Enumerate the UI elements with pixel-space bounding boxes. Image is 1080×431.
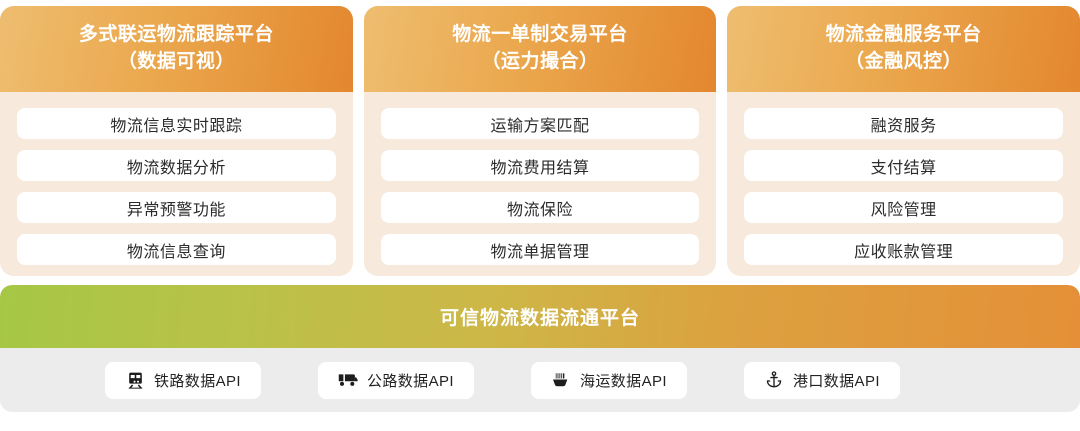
banner-title: 可信物流数据流通平台 [440, 303, 640, 330]
card-title-line2: （运力撮合） [482, 49, 599, 76]
card-body-finance: 融资服务 支付结算 风险管理 应收账款管理 [727, 92, 1080, 276]
feature-pill[interactable]: 应收账款管理 [744, 234, 1063, 265]
card-header-tracking: 多式联运物流跟踪平台 （数据可视） [0, 6, 353, 92]
feature-pill[interactable]: 运输方案匹配 [381, 108, 700, 139]
platform-card-tracking[interactable]: 多式联运物流跟踪平台 （数据可视） 物流信息实时跟踪 物流数据分析 异常预警功能… [0, 6, 353, 276]
api-pill-row: 铁路数据API 公路数据API [0, 348, 1080, 412]
feature-pill[interactable]: 物流信息实时跟踪 [17, 108, 336, 139]
feature-pill[interactable]: 物流信息查询 [17, 234, 336, 265]
anchor-icon [764, 370, 784, 390]
api-label: 海运数据API [580, 370, 667, 391]
platform-cards-row: 多式联运物流跟踪平台 （数据可视） 物流信息实时跟踪 物流数据分析 异常预警功能… [0, 6, 1080, 276]
api-pill-shipping[interactable]: 海运数据API [531, 362, 687, 399]
api-label: 港口数据API [793, 370, 880, 391]
data-exchange-banner: 可信物流数据流通平台 [0, 285, 1080, 348]
card-body-tracking: 物流信息实时跟踪 物流数据分析 异常预警功能 物流信息查询 [0, 92, 353, 276]
api-pill-highway[interactable]: 公路数据API [318, 362, 474, 399]
card-title-line1: 多式联运物流跟踪平台 [79, 22, 274, 49]
card-title-line2: （金融风控） [845, 49, 962, 76]
ship-icon [551, 370, 571, 390]
api-pill-railway[interactable]: 铁路数据API [105, 362, 261, 399]
card-header-finance: 物流金融服务平台 （金融风控） [727, 6, 1080, 92]
api-label: 公路数据API [367, 370, 454, 391]
api-pill-port[interactable]: 港口数据API [744, 362, 900, 399]
feature-pill[interactable]: 异常预警功能 [17, 192, 336, 223]
card-title-line2: （数据可视） [118, 49, 235, 76]
card-title-line1: 物流一单制交易平台 [452, 22, 628, 49]
data-exchange-panel: 可信物流数据流通平台 铁路数据API [0, 285, 1080, 412]
platform-card-trading[interactable]: 物流一单制交易平台 （运力撮合） 运输方案匹配 物流费用结算 物流保险 物流单据… [364, 6, 717, 276]
feature-pill[interactable]: 支付结算 [744, 150, 1063, 181]
card-title-line1: 物流金融服务平台 [826, 22, 982, 49]
feature-pill[interactable]: 物流单据管理 [381, 234, 700, 265]
truck-icon [338, 370, 358, 390]
train-icon [125, 370, 145, 390]
feature-pill[interactable]: 物流数据分析 [17, 150, 336, 181]
feature-pill[interactable]: 风险管理 [744, 192, 1063, 223]
api-label: 铁路数据API [154, 370, 241, 391]
feature-pill[interactable]: 物流费用结算 [381, 150, 700, 181]
feature-pill[interactable]: 融资服务 [744, 108, 1063, 139]
card-header-trading: 物流一单制交易平台 （运力撮合） [364, 6, 717, 92]
feature-pill[interactable]: 物流保险 [381, 192, 700, 223]
card-body-trading: 运输方案匹配 物流费用结算 物流保险 物流单据管理 [364, 92, 717, 276]
platform-card-finance[interactable]: 物流金融服务平台 （金融风控） 融资服务 支付结算 风险管理 应收账款管理 [727, 6, 1080, 276]
